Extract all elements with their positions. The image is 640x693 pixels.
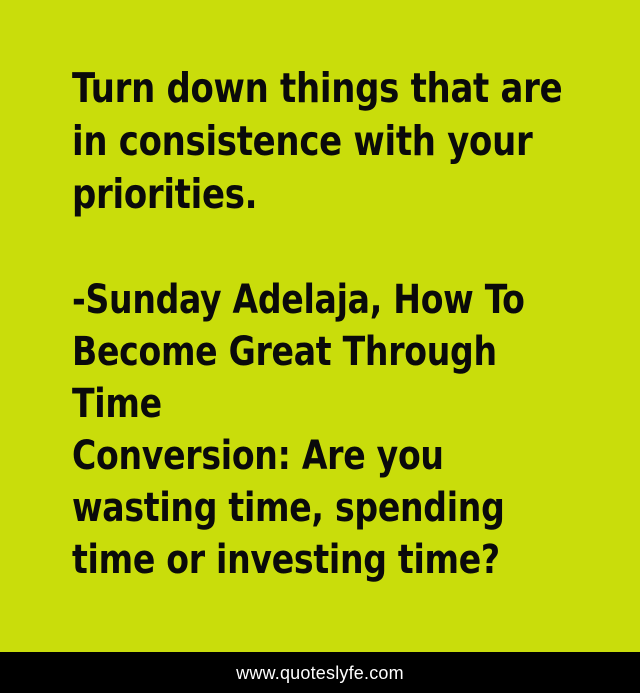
quote-attribution: -Sunday Adelaja, How To Become Great Thr… bbox=[72, 274, 576, 586]
quote-card: Turn down things that are in consistence… bbox=[0, 0, 640, 693]
quote-text: Turn down things that are in consistence… bbox=[72, 62, 576, 221]
footer-bar: www.quoteslyfe.com bbox=[0, 652, 640, 693]
quote-content: Turn down things that are in consistence… bbox=[0, 0, 640, 652]
footer-website-url[interactable]: www.quoteslyfe.com bbox=[236, 664, 404, 682]
quote-spacer bbox=[72, 221, 620, 274]
